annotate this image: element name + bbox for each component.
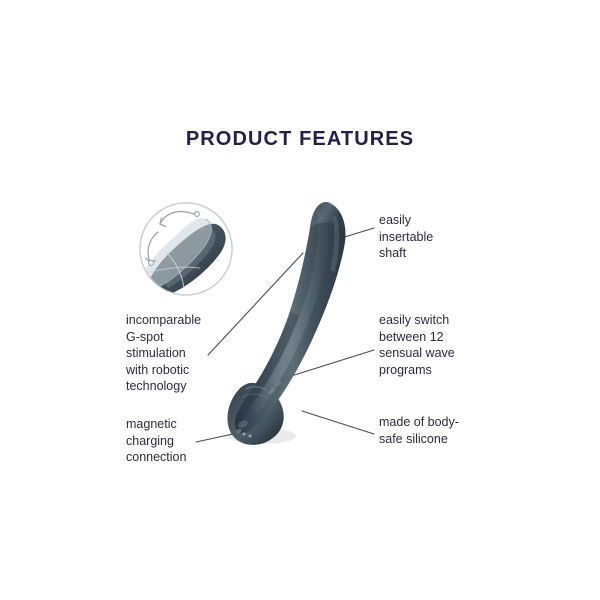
product-illustration [0,0,600,600]
callout-body-safe-silicone: made of body- safe silicone [379,414,497,447]
charging-contact-pin [249,435,252,438]
callout-insertable-shaft: easily insertable shaft [379,212,494,262]
product-body [227,202,345,445]
callout-gspot-stimulation: incomparable G-spot stimulation with rob… [126,312,244,395]
leader-line-body-safe [302,411,374,434]
callout-magnetic-charging: magnetic charging connection [126,416,236,466]
product-features-diagram: PRODUCT FEATURES easily insertable shaft… [0,0,600,600]
charging-contact-pin [243,433,246,436]
callout-switch-programs: easily switch between 12 sensual wave pr… [379,312,497,378]
page-title: PRODUCT FEATURES [0,128,600,151]
inset-detail-circle [139,202,233,297]
